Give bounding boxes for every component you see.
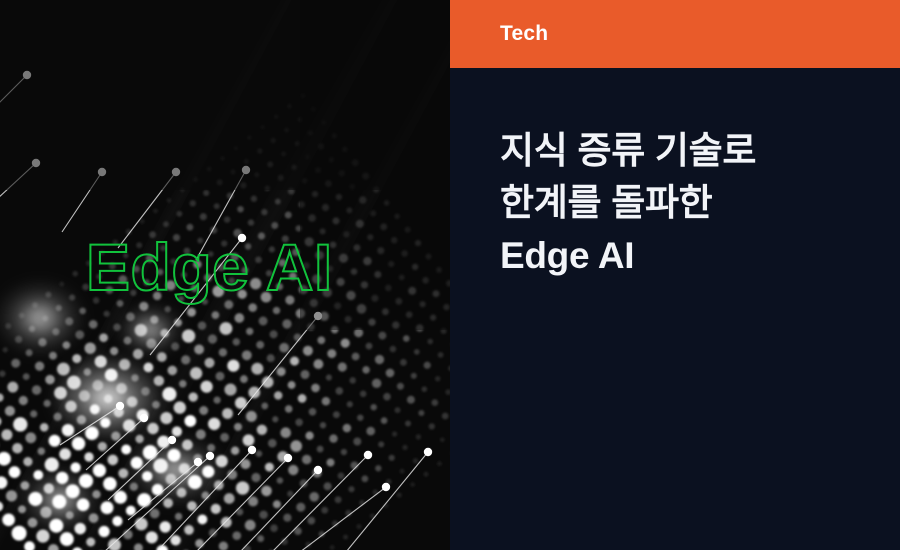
category-label-tech[interactable]: Tech — [500, 0, 548, 68]
headline-line-3: Edge AI — [500, 230, 870, 283]
article-text-panel: Tech 지식 증류 기술로 한계를 돌파한 Edge AI — [450, 0, 900, 550]
halftone-artwork — [0, 0, 450, 550]
headline-line-1: 지식 증류 기술로 — [500, 125, 870, 178]
page-title: 지식 증류 기술로 한계를 돌파한 Edge AI — [500, 125, 870, 283]
hero-image-panel: Edge AI — [0, 0, 450, 550]
article-card[interactable]: Edge AI Tech 지식 증류 기술로 한계를 돌파한 Edge AI — [0, 0, 900, 550]
headline-line-2: 한계를 돌파한 — [500, 177, 870, 230]
